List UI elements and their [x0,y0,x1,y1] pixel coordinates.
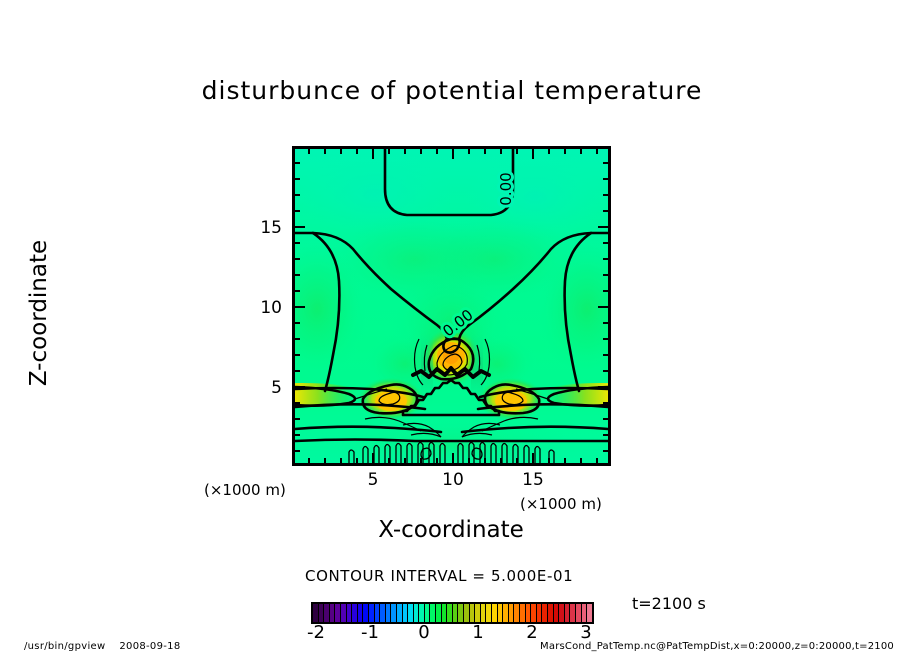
xtick-minor [404,458,406,466]
xtick-major [452,453,454,466]
ytick-major [292,306,305,308]
ytick-right-minor [603,418,611,420]
xtick-top-minor [596,146,598,154]
ytick-label-10: 10 [242,298,282,318]
ytick-minor [292,418,300,420]
xtick-top-minor [500,146,502,154]
xtick-minor [388,458,390,466]
ytick-right-major [598,306,611,308]
ytick-right-minor [603,290,611,292]
xtick-label-10: 10 [433,470,473,490]
page-title: disturbunce of potential temperature [0,76,904,105]
contour-field: 0.00 0.00 0.00 0.00 [295,149,608,463]
xtick-top-minor [308,146,310,154]
xtick-minor [468,458,470,466]
ytick-right-minor [603,402,611,404]
xtick-minor [436,458,438,466]
xtick-top-minor [516,146,518,154]
ytick-minor [292,242,300,244]
xtick-top-minor [388,146,390,154]
ytick-right-minor [603,242,611,244]
ytick-right-minor [603,354,611,356]
x-axis-unit: (×1000 m) [520,495,602,513]
colorbar-tick-2: 2 [512,622,552,643]
ytick-major [292,226,305,228]
colorbar-tick-neg1: -1 [350,622,390,643]
xtick-top-minor [356,146,358,154]
ytick-minor [292,162,300,164]
ytick-right-minor [603,194,611,196]
ytick-minor [292,450,300,452]
ytick-label-5: 5 [242,378,282,398]
xtick-minor [340,458,342,466]
ytick-minor [292,210,300,212]
xtick-label-5: 5 [353,470,393,490]
xtick-minor [484,458,486,466]
ytick-right-minor [603,178,611,180]
xtick-minor [356,458,358,466]
xtick-minor [596,458,598,466]
colorbar-tick-0: 0 [404,622,444,643]
ytick-right-minor [603,450,611,452]
ytick-right-minor [603,162,611,164]
xtick-minor [324,458,326,466]
colorbar-tick-neg2: -2 [296,622,336,643]
xtick-top-minor [340,146,342,154]
y-axis-unit: (×1000 m) [204,481,286,499]
colorbar-tick-1: 1 [458,622,498,643]
xtick-top-major [372,146,374,159]
ytick-minor [292,370,300,372]
ytick-minor [292,402,300,404]
xtick-top-minor [564,146,566,154]
ytick-minor [292,322,300,324]
ytick-minor [292,258,300,260]
xtick-minor [516,458,518,466]
ytick-minor [292,434,300,436]
ytick-right-minor [603,370,611,372]
footer-date: 2008-09-18 [119,641,180,652]
ytick-minor [292,194,300,196]
footer-command: /usr/bin/gpview [24,641,105,652]
xtick-minor [308,458,310,466]
xtick-label-15: 15 [513,470,553,490]
xtick-top-minor [548,146,550,154]
contour-plot-area: 0.00 0.00 0.00 0.00 [292,146,611,466]
ytick-minor [292,354,300,356]
ytick-right-minor [603,274,611,276]
ytick-right-minor [603,258,611,260]
ytick-right-minor [603,338,611,340]
contour-interval-label: CONTOUR INTERVAL = 5.000E-01 [305,567,573,585]
xtick-major [532,453,534,466]
ytick-right-minor [603,322,611,324]
ytick-major [292,386,305,388]
colorbar[interactable] [311,602,594,624]
ytick-minor [292,178,300,180]
ytick-label-15: 15 [242,218,282,238]
xtick-minor [564,458,566,466]
colorbar-segment-49 [587,604,592,622]
ytick-right-minor [603,434,611,436]
xtick-major [372,453,374,466]
xtick-top-minor [420,146,422,154]
contour-label-upper: 0.00 [497,172,515,205]
ytick-right-major [598,226,611,228]
xtick-minor [420,458,422,466]
xtick-minor [500,458,502,466]
ytick-minor [292,290,300,292]
ytick-right-minor [603,210,611,212]
xtick-top-major [532,146,534,159]
xtick-top-minor [324,146,326,154]
xtick-minor [580,458,582,466]
xtick-top-minor [436,146,438,154]
xtick-minor [548,458,550,466]
ytick-minor [292,338,300,340]
xtick-top-minor [484,146,486,154]
xtick-top-major [452,146,454,159]
footer-command-info: /usr/bin/gpview 2008-09-18 [24,641,181,652]
ytick-right-major [598,386,611,388]
y-axis-title: Z-coordinate [26,213,52,413]
time-label: t=2100 s [632,594,706,613]
xtick-top-minor [468,146,470,154]
footer-data-source: MarsCond_PatTemp.nc@PatTempDist,x=0:2000… [540,641,894,652]
xtick-top-minor [580,146,582,154]
colorbar-tick-3: 3 [566,622,606,643]
xtick-top-minor [404,146,406,154]
x-axis-title: X-coordinate [291,517,611,543]
ytick-minor [292,274,300,276]
